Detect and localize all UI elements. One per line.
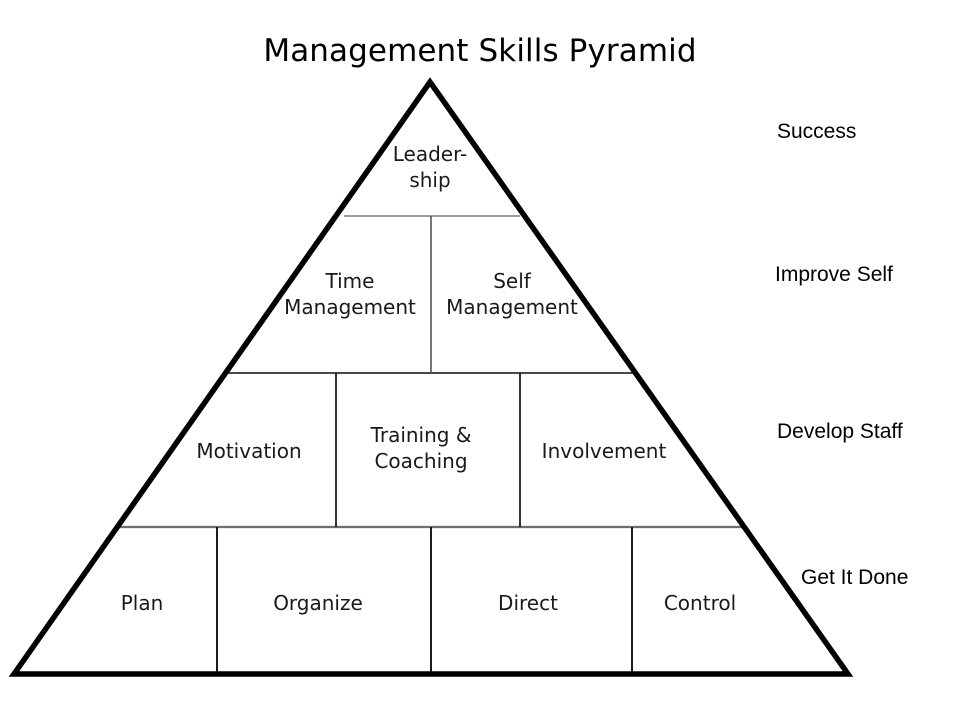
pyramid-block-involvement[interactable]: Involvement xyxy=(524,438,684,464)
pyramid-block-plan[interactable]: Plan xyxy=(72,590,212,616)
pyramid-block-leadership[interactable]: Leader- ship xyxy=(355,141,505,194)
pyramid-block-control[interactable]: Control xyxy=(630,590,770,616)
pyramid-block-direct[interactable]: Direct xyxy=(458,590,598,616)
pyramid-block-self-management[interactable]: Self Management xyxy=(432,268,592,321)
pyramid-block-organize[interactable]: Organize xyxy=(248,590,388,616)
outcome-label-success: Success xyxy=(777,120,856,144)
pyramid-block-motivation[interactable]: Motivation xyxy=(169,438,329,464)
pyramid-block-training-coaching[interactable]: Training & Coaching xyxy=(341,422,501,475)
management-skills-pyramid-diagram: Management Skills Pyramid Leader- ship T… xyxy=(0,0,960,720)
outcome-label-improve-self: Improve Self xyxy=(775,263,893,287)
outcome-label-get-it-done: Get It Done xyxy=(801,566,908,590)
pyramid-block-time-management[interactable]: Time Management xyxy=(270,268,430,321)
outcome-label-develop-staff: Develop Staff xyxy=(777,420,903,444)
